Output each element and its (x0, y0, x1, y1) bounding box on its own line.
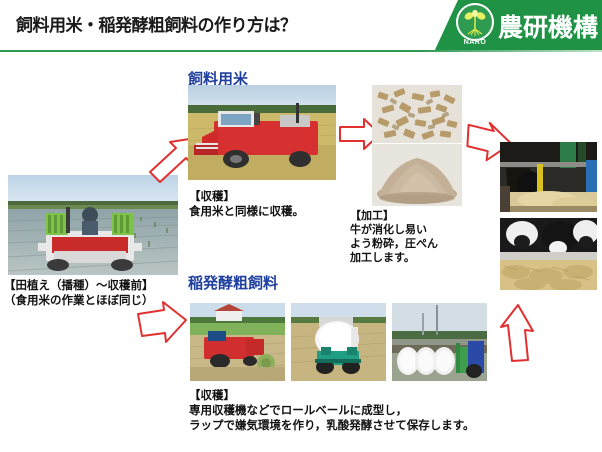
naro-sprout-logo-icon (456, 3, 494, 41)
wrapped-white-round-bales-photo (392, 303, 487, 381)
ground-rice-powder-pile-photo (372, 144, 462, 206)
crushed-rice-grain-pile-photo (372, 85, 462, 143)
slide-header: 飼料用米・稲発酵粗飼料の作り方は？ NARO 農研機構 (0, 0, 602, 52)
header-divider (0, 50, 602, 52)
page-title: 飼料用米・稲発酵粗飼料の作り方は？ (16, 11, 297, 36)
naro-brand-name: 農研機構 (498, 8, 598, 44)
rice-transplanter-in-paddy-photo (8, 175, 178, 275)
arrow-down-right-red-2 (134, 300, 192, 350)
section-heading-silage: 稲発酵粗飼料 (188, 272, 278, 293)
slide-canvas: 飼料用米・稲発酵粗飼料の作り方は？ NARO 農研機構 飼料用米 稲発酵粗飼料 (0, 0, 602, 452)
caption-harvest-rice: 【収穫】 食用米と同様に収穫。 (189, 190, 349, 220)
cows-eating-silage-photo (500, 218, 597, 290)
naro-wordmark: NARO (456, 39, 494, 46)
red-roll-baler-harvester-photo (190, 303, 285, 381)
caption-processing: 【加工】 牛が消化し易い よう粉砕，圧ぺん 加工します。 (350, 209, 480, 265)
naro-brand-inner: NARO 農研機構 (434, 0, 602, 52)
caption-harvest-silage: 【収穫】 専用収穫機などでロールベールに成型し， ラップで嫌気環境を作り，乳酸発… (189, 389, 589, 434)
arrow-up-red (500, 303, 538, 365)
red-combine-harvester-photo (188, 85, 336, 180)
cow-eating-feed-in-barn-photo (500, 142, 597, 212)
bale-wrapping-machine-photo (291, 303, 386, 381)
